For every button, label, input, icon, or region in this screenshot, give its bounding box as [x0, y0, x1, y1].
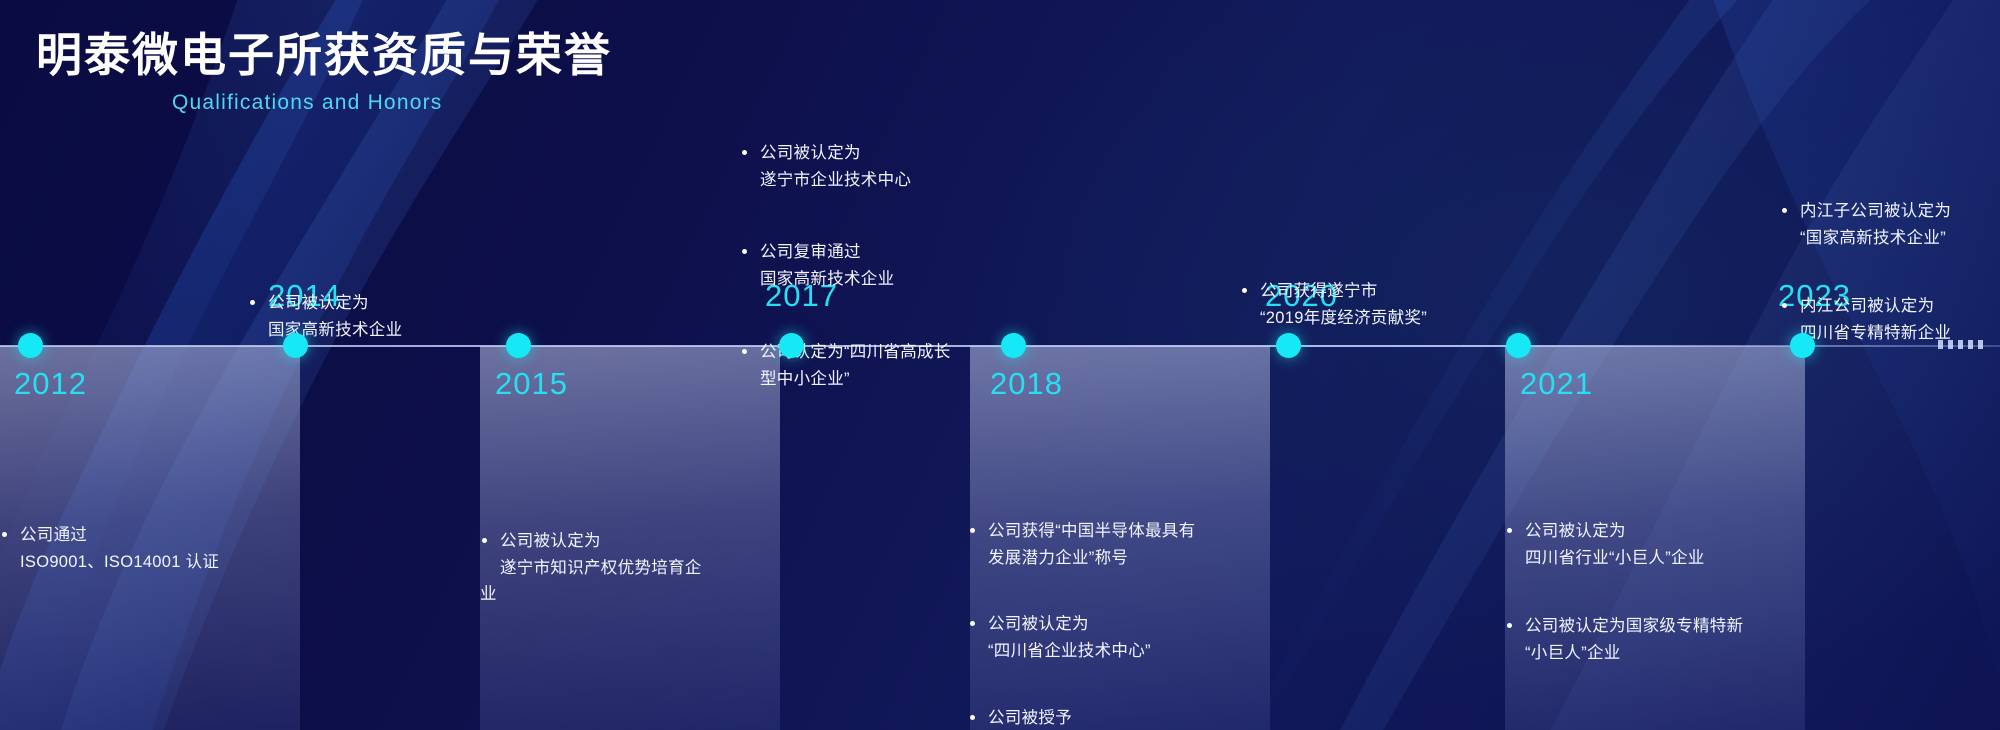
list-item: 公司复审通过 国家高新技术企业 [740, 239, 1040, 292]
bullet-line-3: 业 [480, 581, 780, 608]
bullet-line-1: 公司被认定为国家级专精特新 [1525, 617, 1743, 635]
bullet-line-1: 公司被认定为 [760, 144, 861, 162]
bullet-line-2: “四川省企业技术中心” [988, 638, 1278, 665]
bullet-line-1: 公司被认定为 [1525, 522, 1626, 540]
list-item: 公司被认定为 四川省行业“小巨人”企业 [1505, 518, 1825, 571]
bullet-line-1: 内江子公司被认定为 [1800, 202, 1951, 220]
list-item: 公司通过 ISO9001、ISO14001 认证 [0, 522, 300, 575]
bullet-line-2: ISO9001、ISO14001 认证 [20, 549, 300, 576]
list-item: 公司被认定为 “四川省企业技术中心” [968, 611, 1278, 664]
bullet-line-2: “小巨人”企业 [1525, 640, 1825, 667]
bullet-line-1: 内江公司被认定为 [1800, 297, 1934, 315]
list-item: 公司被认定为 遂宁市企业技术中心 [740, 140, 1040, 193]
bullet-group-2015: 公司被认定为 遂宁市知识产权优势培育企 业 [480, 528, 780, 608]
timeline-node-2018[interactable] [1001, 333, 1026, 358]
bullet-line-2: 四川省专精特新企业 [1800, 320, 2000, 347]
bullet-line-2: 国家高新技术企业 [760, 266, 1040, 293]
bullet-line-2: 四川省行业“小巨人”企业 [1525, 545, 1825, 572]
list-item: 内江子公司被认定为 “国家高新技术企业” [1780, 198, 2000, 251]
list-item: 公司被认定为 遂宁市知识产权优势培育企 业 [480, 528, 780, 608]
timeline-node-2015[interactable] [506, 333, 531, 358]
bullet-line-2: “国家高新技术企业” [1800, 225, 2000, 252]
bullet-group-2018: 公司获得“中国半导体最具有 发展潜力企业”称号 公司被认定为 “四川省企业技术中… [968, 518, 1278, 730]
timeline-node-2020[interactable] [1276, 333, 1301, 358]
bullet-group-2012: 公司通过 ISO9001、ISO14001 认证 [0, 522, 300, 575]
list-item: 公司被认定为国家级专精特新 “小巨人”企业 [1505, 613, 1825, 666]
timeline-node-2014[interactable] [283, 333, 308, 358]
year-label-2012: 2012 [14, 366, 87, 402]
list-item: 公司获得“中国半导体最具有 发展潜力企业”称号 [968, 518, 1278, 571]
bullet-line-1: 公司复审通过 [760, 243, 861, 261]
bullet-line-1: 公司通过 [20, 526, 87, 544]
timeline-node-2012[interactable] [18, 333, 43, 358]
bullet-line-1: 公司获得“中国半导体最具有 [988, 522, 1195, 540]
bullet-group-2021: 公司被认定为 四川省行业“小巨人”企业 公司被认定为国家级专精特新 “小巨人”企… [1505, 518, 1825, 667]
timeline-node-2021[interactable] [1506, 333, 1531, 358]
year-label-2015: 2015 [495, 366, 568, 402]
list-item: 公司获得遂宁市 “2019年度经济贡献奖” [1240, 278, 1540, 331]
slide-canvas: 明泰微电子所获资质与荣誉 Qualifications and Honors 2… [0, 0, 2000, 730]
bullet-line-1: 公司获得遂宁市 [1260, 282, 1378, 300]
header-block: 明泰微电子所获资质与荣誉 Qualifications and Honors [36, 30, 612, 115]
bullet-line-2: 遂宁市知识产权优势培育企 [500, 555, 780, 582]
bullet-group-2023: 内江子公司被认定为 “国家高新技术企业” 内江公司被认定为 四川省专精特新企业 [1780, 198, 2000, 347]
bullet-line-2: 国家高新技术企业 [268, 317, 548, 344]
bullet-line-1: 公司被认定为 [988, 615, 1089, 633]
bullet-line-1: 公司被授予 [988, 709, 1072, 727]
bullet-line-2: 型中小企业” [760, 366, 1040, 393]
timeline-node-2017[interactable] [779, 333, 804, 358]
bullet-line-2: 发展潜力企业”称号 [988, 545, 1278, 572]
bullet-line-2: “2019年度经济贡献奖” [1260, 305, 1540, 332]
timeline-node-2023[interactable] [1790, 333, 1815, 358]
bullet-line-1: 公司被认定为 [500, 532, 601, 550]
bullet-line-1: 公司被认定为 [268, 294, 369, 312]
bullet-line-2: 遂宁市企业技术中心 [760, 167, 1040, 194]
page-subtitle: Qualifications and Honors [172, 91, 612, 115]
list-item: 公司被授予 “遂宁市优秀民营企业”称号 [968, 705, 1278, 730]
page-title: 明泰微电子所获资质与荣誉 [36, 30, 612, 81]
bullet-group-2020: 公司获得遂宁市 “2019年度经济贡献奖” [1240, 278, 1540, 331]
year-label-2021: 2021 [1520, 366, 1593, 402]
